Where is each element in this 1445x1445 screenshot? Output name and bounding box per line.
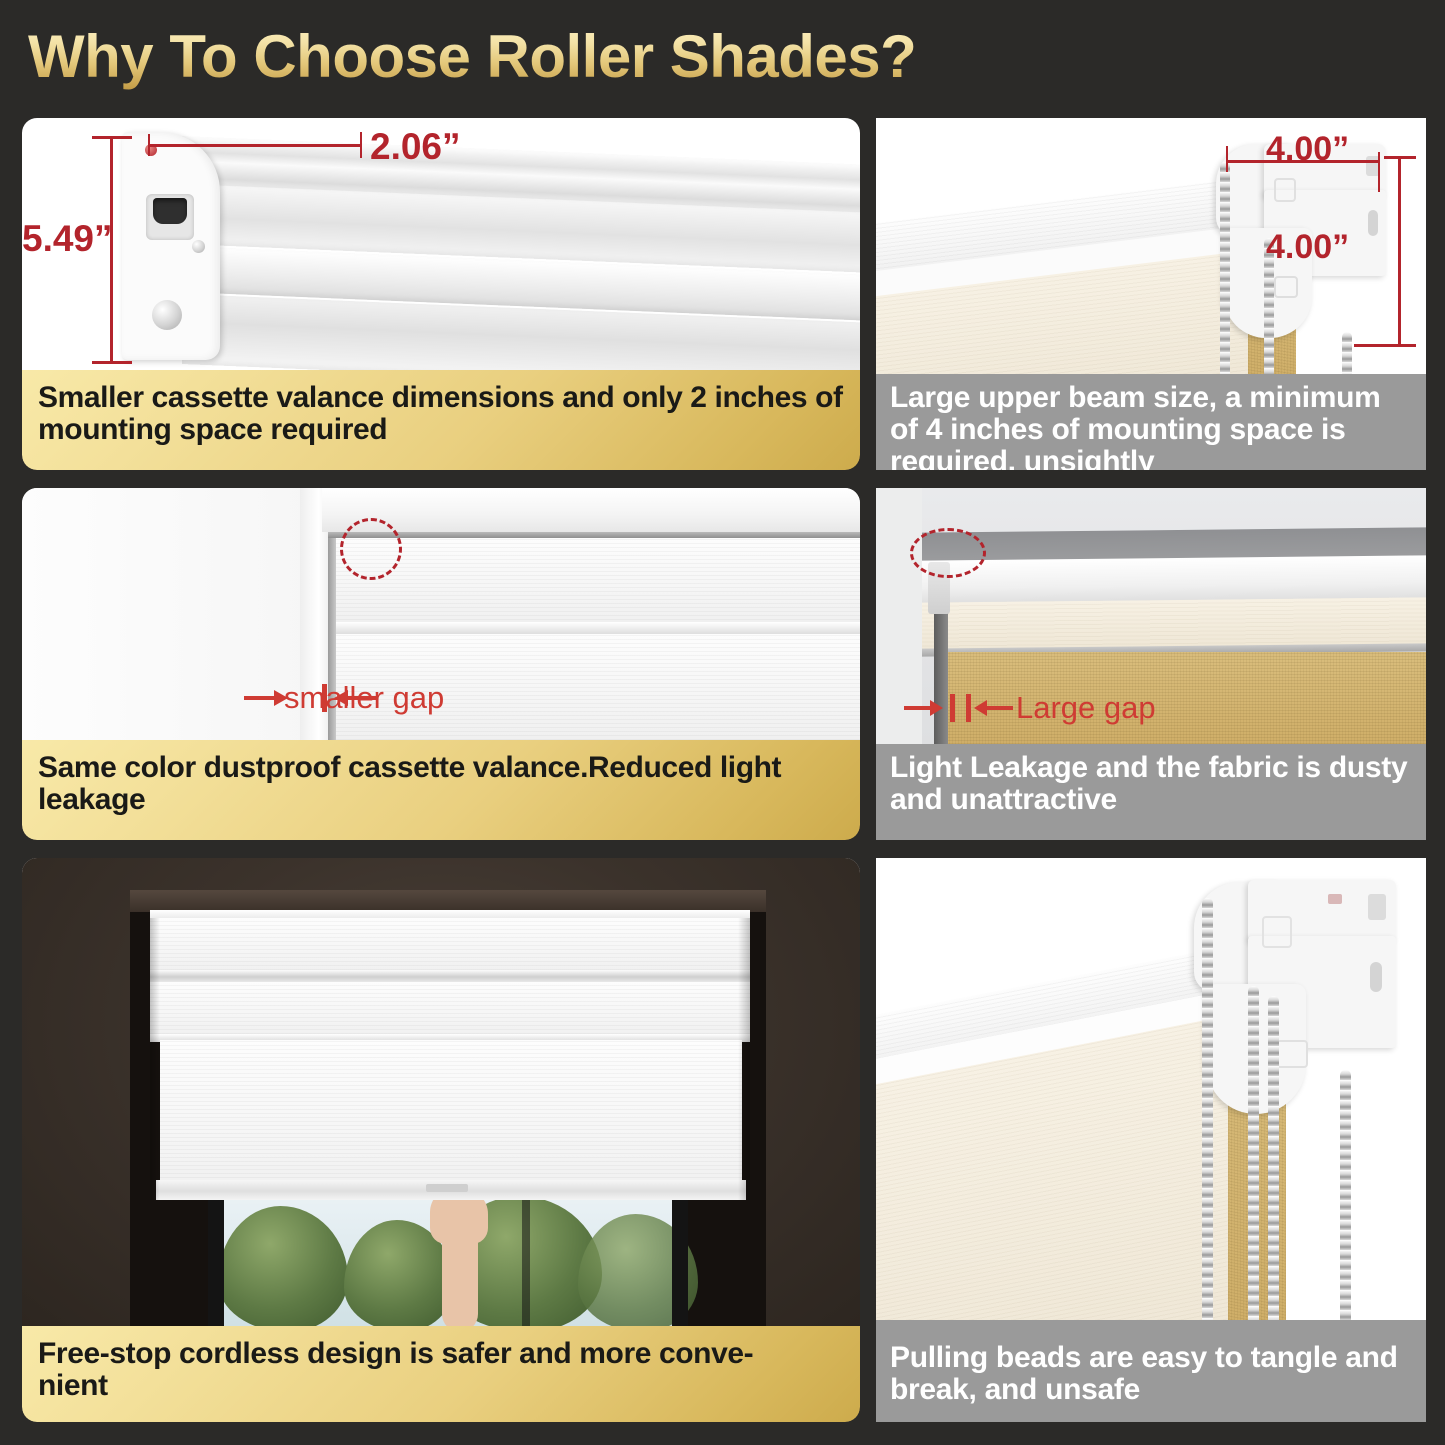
width-dim-tick-right — [360, 132, 362, 158]
panel-6-photo — [876, 858, 1426, 1334]
panel-2-caption: Large upper beam size, a minimum of 4 in… — [876, 374, 1426, 470]
window-frame-header — [322, 488, 860, 532]
height-dim-tick-bottom — [92, 361, 132, 364]
gap-marker-bar-right — [966, 694, 971, 722]
panel-3-dustproof-valance: smaller gap Same color dustproof cassett… — [22, 488, 860, 840]
bracket-notch-lower — [1368, 210, 1378, 236]
bead-chain-1 — [1202, 898, 1213, 1334]
p2-width-dimension-label: 4.00” — [1266, 130, 1349, 169]
panel-5-caption-text: Free-stop cordless design is safer and m… — [38, 1338, 753, 1403]
photo-bottom-strip — [876, 1320, 1426, 1334]
shade-shadow-left — [150, 918, 160, 1200]
highlight-circle — [340, 518, 402, 580]
valance-lower-face — [150, 982, 750, 1038]
infographic-page: Why To Choose Roller Shades? 2.06” — [0, 0, 1445, 1445]
panel-5-cordless-design: Free-stop cordless design is safer and m… — [22, 858, 860, 1422]
panel-5-caption: Free-stop cordless design is safer and m… — [22, 1326, 860, 1422]
bead-chain-2 — [1248, 986, 1259, 1334]
panel-2-large-beam: 4.00” 4.00” Large upper beam size, a min… — [876, 118, 1426, 470]
gap-marker-bar-left — [950, 694, 955, 722]
p2-height-dimension-label: 4.00” — [1266, 228, 1349, 267]
valance-bottom-rail — [328, 622, 860, 634]
bead-chain-4 — [1340, 1070, 1351, 1334]
bracket-emboss-lower — [1274, 276, 1298, 298]
page-title: Why To Choose Roller Shades? — [28, 22, 1028, 94]
bead-chain-3 — [1342, 332, 1352, 378]
light-gap-strip — [934, 606, 948, 744]
bracket-emboss-lower — [1276, 1040, 1308, 1068]
bead-chain-1 — [1220, 162, 1230, 378]
panel-3-photo: smaller gap — [22, 488, 860, 740]
window-mullion-right — [672, 1178, 688, 1332]
bracket-notch-upper — [1368, 894, 1386, 920]
valance-upper-face — [150, 918, 750, 974]
end-cap-screw-lower — [152, 300, 182, 330]
shade-fabric-body — [160, 1040, 742, 1198]
bracket-emboss-upper — [1262, 916, 1292, 948]
bracket-pink-marker — [1328, 894, 1342, 904]
bracket-emboss-upper — [1274, 178, 1296, 202]
panel-2-caption-text: Large upper beam size, a minimum of 4 in… — [890, 382, 1412, 470]
window-mullion-center — [522, 1178, 530, 1332]
panel-6-caption: Pulling beads are easy to tangle and bre… — [876, 1334, 1426, 1422]
window-recess-top — [130, 890, 766, 912]
p2-height-line — [1398, 156, 1401, 346]
gap-arrow-right-shaft — [987, 706, 1013, 710]
shade-pull-tab — [426, 1184, 468, 1192]
p2-height-tick-top — [1384, 156, 1416, 159]
panel-6-caption-text: Pulling beads are easy to tangle and bre… — [890, 1342, 1412, 1406]
gap-arrow-left-shaft — [244, 696, 278, 700]
panel-3-caption-text: Same color dustproof cassette valance.Re… — [38, 752, 844, 817]
width-dim-line — [148, 144, 362, 147]
gap-arrow-left-head — [930, 700, 943, 716]
smaller-gap-callout: smaller gap — [284, 680, 444, 716]
panel-1-caption-text: Smaller cassette valance dimensions and … — [38, 382, 844, 447]
gap-arrow-right-head — [974, 700, 987, 716]
panel-1-caption: Smaller cassette valance dimensions and … — [22, 370, 860, 470]
cream-band — [922, 597, 1426, 650]
bracket-notch-lower — [1370, 962, 1382, 992]
panel-1-smaller-cassette: 2.06” 5.49” Smaller cassette valance dim… — [22, 118, 860, 470]
panel-5-caption-line-2: nient — [38, 1369, 108, 1402]
panel-4-caption-text: Light Leakage and the fabric is dusty an… — [890, 752, 1412, 816]
end-cap-screw-mid — [192, 240, 205, 253]
panel-4-caption: Light Leakage and the fabric is dusty an… — [876, 744, 1426, 840]
large-gap-callout: Large gap — [1016, 690, 1156, 726]
highlight-circle — [910, 528, 986, 578]
height-dim-tick-top — [92, 136, 132, 139]
panel-4-photo: Large gap — [876, 488, 1426, 744]
panel-5-caption-line-1: Free-stop cordless design is safer and m… — [38, 1337, 753, 1370]
panel-3-caption: Same color dustproof cassette valance.Re… — [22, 740, 860, 840]
panel-4-light-leakage: Large gap Light Leakage and the fabric i… — [876, 488, 1426, 840]
height-dimension-label: 5.49” — [22, 218, 113, 260]
panel-6-pulling-beads: Pulling beads are easy to tangle and bre… — [876, 858, 1426, 1422]
shade-shadow-right — [738, 918, 750, 1200]
width-dimension-label: 2.06” — [370, 126, 461, 168]
bead-chain-3 — [1268, 996, 1279, 1334]
p2-height-tick-bottom — [1354, 344, 1416, 347]
p2-width-tick-left — [1226, 146, 1228, 172]
panel-2-photo: 4.00” 4.00” — [876, 118, 1426, 378]
panel-5-photo — [22, 858, 860, 1332]
end-cap-slot — [153, 198, 187, 224]
p2-width-tick-right — [1378, 152, 1380, 192]
cassette-valance-face — [328, 538, 860, 624]
panel-1-photo: 2.06” 5.49” — [22, 118, 860, 370]
window-mullion-left — [208, 1178, 224, 1332]
